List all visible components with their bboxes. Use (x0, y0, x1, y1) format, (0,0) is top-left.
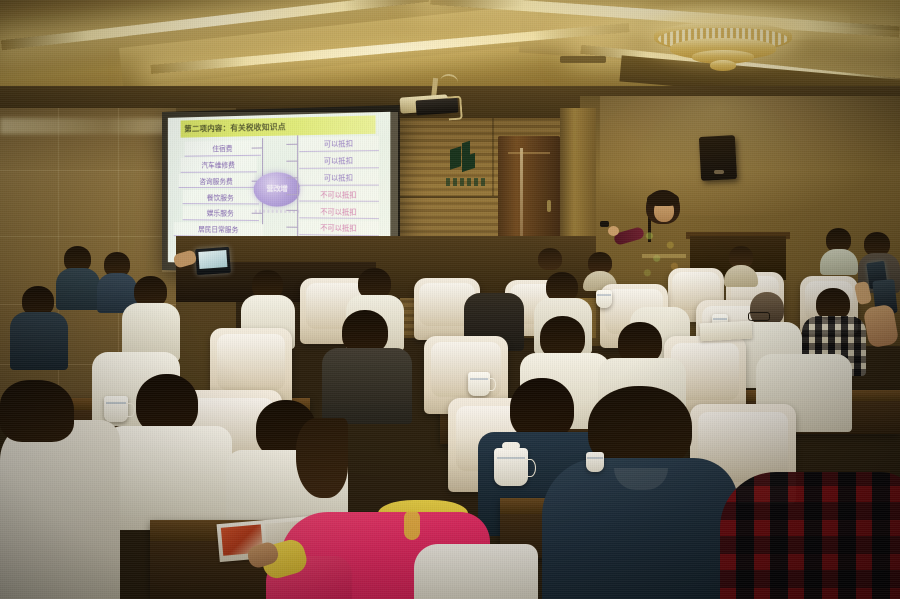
wall-speaker (699, 135, 737, 181)
attendee (470, 266, 518, 346)
collar-edge (404, 510, 420, 540)
presenter-hair-front (647, 192, 679, 206)
chandelier (648, 8, 798, 74)
door-handle[interactable] (547, 200, 551, 212)
attendee (0, 420, 120, 599)
slide-left-item: 汽车维修费 (180, 157, 257, 172)
attendee (822, 228, 856, 268)
tablet[interactable] (195, 247, 231, 275)
presenter-belt (642, 254, 686, 258)
slide-right-item: 不可以抵扣 (299, 220, 378, 236)
hoodie-white-panel (414, 544, 538, 599)
wall-logo-icon (448, 142, 482, 176)
attendee-red-plaid (730, 396, 900, 599)
presenter-hand (608, 226, 619, 236)
slide-left-item: 餐饮服务 (182, 190, 259, 205)
slide-left-item: 娱乐服务 (182, 206, 259, 221)
teacup (468, 372, 490, 396)
plaid-shirt (720, 472, 900, 599)
projector-bracket (447, 96, 463, 121)
speaker-port (714, 170, 724, 174)
slide-left-item: 咨询服务费 (178, 174, 255, 189)
slide-left-item: 住宿费 (184, 141, 261, 157)
attendee (330, 310, 402, 418)
slide-right-item: 可以抵扣 (299, 170, 378, 186)
slide-right-item: 不可以抵扣 (299, 204, 378, 220)
seminar-photograph: 第二项内容：有关税收知识点 住宿费 汽车维修费 咨询服务费 餐饮服务 娱乐服务 … (0, 0, 900, 599)
attendee (556, 386, 726, 599)
slide-right-item: 可以抵扣 (299, 135, 378, 151)
slide-right-item: 不可以抵扣 (299, 187, 378, 202)
attendee (586, 252, 614, 282)
attendee (118, 374, 218, 524)
teacup (586, 452, 604, 472)
attendee (536, 248, 564, 274)
teacup (596, 290, 612, 308)
chandelier-finial (710, 60, 736, 71)
notepad (700, 321, 753, 342)
attendee-hair-strand (296, 418, 348, 498)
attendee-pink-hoodie (286, 404, 536, 599)
wall-logo-wordmark (446, 178, 486, 186)
attendee (60, 246, 96, 306)
attendee-hair (0, 380, 74, 442)
ceiling-coffer (119, 4, 541, 88)
slide-right-item: 可以抵扣 (299, 153, 378, 169)
ceiling-vent (560, 56, 606, 63)
presentation-remote[interactable] (600, 221, 609, 227)
wall-highlight (0, 118, 176, 134)
attendee (726, 246, 756, 278)
attendee (16, 286, 62, 366)
slide-connector (297, 135, 298, 247)
slide-hub-label: 营改增 (266, 184, 287, 194)
door-trim (508, 152, 550, 154)
wood-seam (492, 118, 494, 196)
